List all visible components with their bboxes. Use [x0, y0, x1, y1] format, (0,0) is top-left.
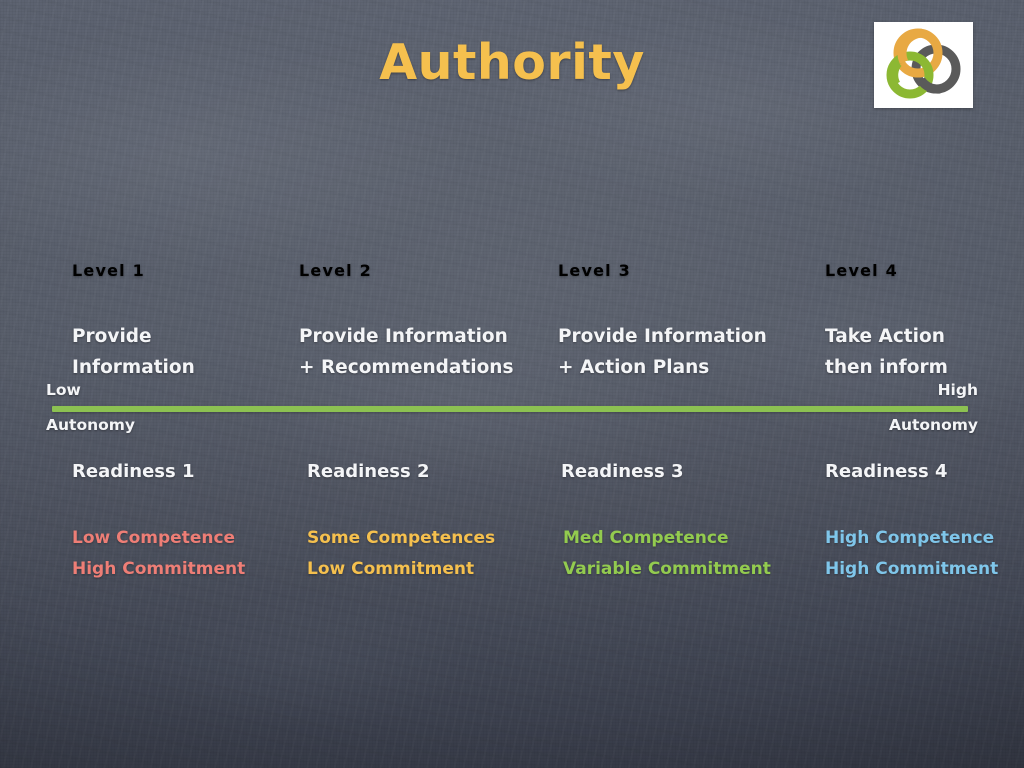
readiness-3-commitment: Variable Commitment	[563, 554, 771, 585]
level-4-label: Level 4	[825, 261, 898, 280]
level-3-description-line2: + Action Plans	[558, 352, 709, 383]
axis-low-label-bottom: Autonomy	[46, 416, 135, 434]
level-3-label: Level 3	[558, 261, 631, 280]
level-2-description-line2: + Recommendations	[299, 352, 513, 383]
level-1-description-line1: Provide	[72, 321, 152, 352]
level-1-label: Level 1	[72, 261, 145, 280]
slide-canvas: Authority Level 1 Provide Information Re…	[0, 0, 1024, 768]
readiness-2-competence: Some Competences	[307, 523, 495, 554]
readiness-3-competence: Med Competence	[563, 523, 728, 554]
level-1-description-line2: Information	[72, 352, 195, 383]
level-3-description-line1: Provide Information	[558, 321, 767, 352]
page-title: Authority	[0, 34, 1024, 91]
readiness-1-commitment: High Commitment	[72, 554, 245, 585]
readiness-2-label: Readiness 2	[307, 461, 430, 482]
level-4-description-line2: then inform	[825, 352, 948, 383]
level-2-description-line1: Provide Information	[299, 321, 508, 352]
three-interlocking-rings-icon	[874, 22, 973, 108]
autonomy-axis-line	[52, 406, 968, 412]
axis-high-label-top: High	[938, 381, 978, 399]
readiness-3-label: Readiness 3	[561, 461, 684, 482]
level-4-description-line1: Take Action	[825, 321, 945, 352]
brand-logo	[874, 22, 973, 108]
level-2-label: Level 2	[299, 261, 372, 280]
readiness-4-label: Readiness 4	[825, 461, 948, 482]
readiness-4-competence: High Competence	[825, 523, 994, 554]
axis-low-label-top: Low	[46, 381, 81, 399]
readiness-1-label: Readiness 1	[72, 461, 195, 482]
axis-high-label-bottom: Autonomy	[889, 416, 978, 434]
readiness-1-competence: Low Competence	[72, 523, 235, 554]
readiness-2-commitment: Low Commitment	[307, 554, 474, 585]
readiness-4-commitment: High Commitment	[825, 554, 998, 585]
